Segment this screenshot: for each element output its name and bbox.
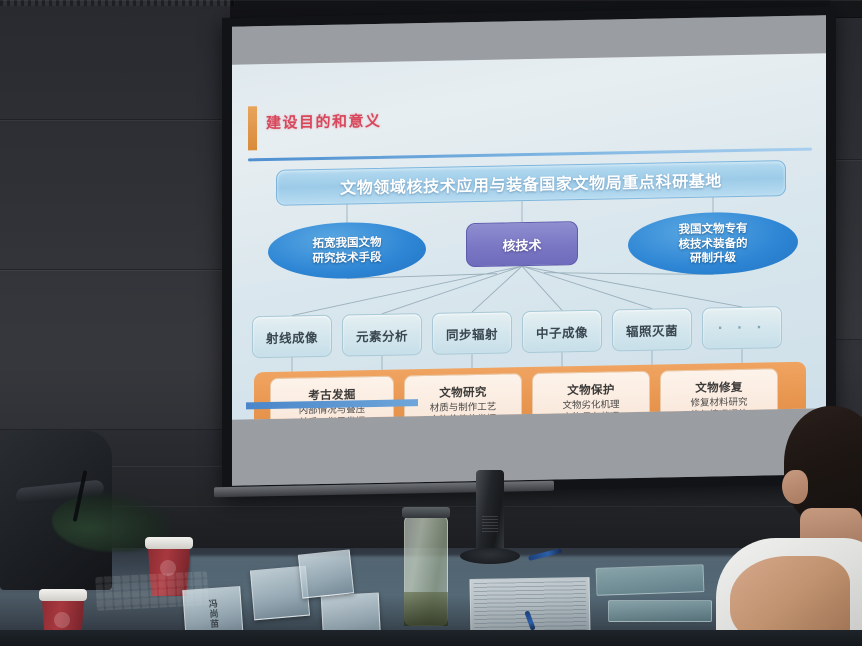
cup-logo-front bbox=[54, 612, 70, 628]
application-title-4: 文物修复 bbox=[695, 379, 743, 396]
conference-microphone[interactable] bbox=[476, 470, 504, 562]
conference-room-scene: 建设目的和意义 bbox=[0, 0, 862, 646]
technique-row: 射线成像 元素分析 同步辐射 中子成像 辐照灭菌 · · · bbox=[232, 305, 826, 360]
slide-diagram: 文物领域核技术应用与装备国家文物局重点科研基地 拓宽我国文物 研究技术手段 核技… bbox=[232, 53, 826, 419]
goal-right-node: 我国文物专有 核技术装备的 研制升级 bbox=[628, 211, 798, 276]
projector-screen: 建设目的和意义 bbox=[222, 6, 836, 496]
microphone-grille bbox=[482, 516, 498, 532]
cup-lid-left bbox=[145, 537, 193, 549]
technique-box-2: 元素分析 bbox=[342, 313, 422, 357]
tea-jar-lid bbox=[402, 507, 450, 518]
application-card-2: 文物研究 材质与制作工艺 文物价值的发掘 bbox=[404, 373, 522, 420]
table-front-edge bbox=[0, 630, 862, 646]
wall-panel-left-1 bbox=[0, 0, 230, 120]
application-desc-3-line1: 文物劣化机理 bbox=[562, 399, 619, 411]
attendee-ear bbox=[782, 470, 808, 504]
tea-jar bbox=[404, 516, 448, 626]
tea-leaves bbox=[404, 592, 448, 626]
technique-box-1: 射线成像 bbox=[252, 315, 332, 359]
goal-right-line2: 核技术装备的 bbox=[679, 235, 748, 251]
technique-box-3: 同步辐射 bbox=[432, 311, 512, 355]
goal-left-line2: 研究技术手段 bbox=[313, 250, 382, 266]
goal-right-line3: 研制升级 bbox=[679, 250, 748, 266]
nameplate-4 bbox=[298, 549, 354, 598]
core-tech-node: 核技术 bbox=[466, 221, 578, 267]
projection-surface: 建设目的和意义 bbox=[232, 15, 826, 485]
notebook-back bbox=[596, 564, 705, 596]
diagram-header-box: 文物领域核技术应用与装备国家文物局重点科研基地 bbox=[276, 160, 786, 206]
letterbox-bottom bbox=[232, 408, 826, 485]
notebook-front bbox=[608, 600, 712, 622]
application-title-2: 文物研究 bbox=[439, 383, 487, 400]
wall-panel-left-2 bbox=[0, 120, 230, 270]
goal-left-line1: 拓宽我国文物 bbox=[313, 235, 382, 251]
technique-box-more: · · · bbox=[702, 306, 782, 350]
application-title-3: 文物保护 bbox=[567, 381, 615, 398]
application-desc-2-line1: 材质与制作工艺 bbox=[430, 401, 497, 413]
microphone-base bbox=[460, 548, 520, 564]
goal-left-node: 拓宽我国文物 研究技术手段 bbox=[268, 221, 426, 280]
application-card-1: 考古发掘 内部情况与叠压 关系，指导发掘 bbox=[270, 376, 394, 420]
goal-right-line1: 我国文物专有 bbox=[679, 221, 748, 237]
nameplate-1-text: 冯尚苗 bbox=[205, 599, 220, 630]
technique-box-5: 辐照灭菌 bbox=[612, 308, 692, 352]
attendee-head bbox=[784, 406, 862, 524]
application-desc-4-line1: 修复材料研究 bbox=[690, 396, 747, 408]
cup-lid-front bbox=[39, 589, 87, 601]
technique-box-4: 中子成像 bbox=[522, 310, 602, 354]
presentation-slide: 建设目的和意义 bbox=[232, 53, 826, 419]
wall-panel-left-3 bbox=[0, 270, 230, 430]
